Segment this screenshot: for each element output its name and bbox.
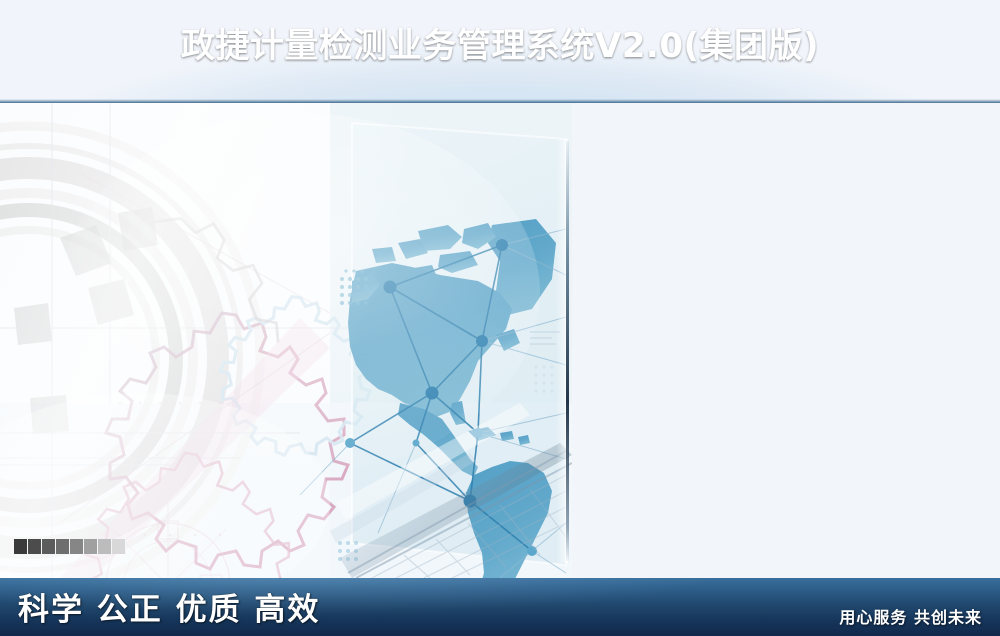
grayscale-swatch [70,539,84,554]
splash-screen: 政捷计量检测业务管理系统V2.0(集团版) [0,0,1000,636]
hero-illustration [0,103,572,578]
grayscale-calibration-strip [14,539,126,554]
grayscale-swatch [112,539,126,554]
grayscale-swatch [42,539,56,554]
page-title: 政捷计量检测业务管理系统V2.0(集团版) [0,23,1000,69]
hero-artwork [0,103,572,578]
panel-edge [566,141,569,561]
grayscale-swatch [14,539,28,554]
slogan-primary: 科学 公正 优质 高效 [18,592,320,628]
grayscale-swatch [56,539,70,554]
grayscale-swatch [98,539,112,554]
content-area [0,103,1000,578]
grayscale-swatch [28,539,42,554]
app-header: 政捷计量检测业务管理系统V2.0(集团版) [0,0,1000,103]
slogan-secondary: 用心服务 共创未来 [839,608,982,628]
grayscale-swatch [84,539,98,554]
